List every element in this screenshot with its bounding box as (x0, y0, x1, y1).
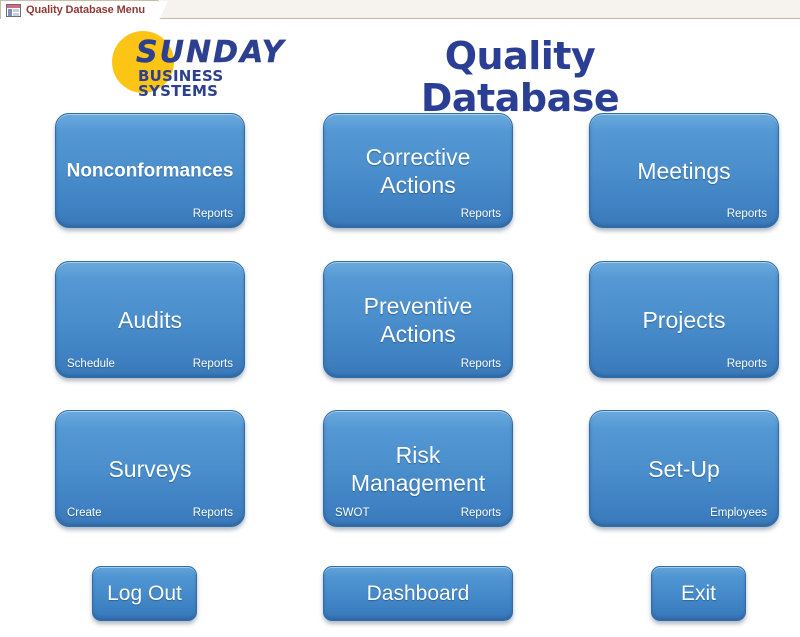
menu-button-sublabel-swot[interactable]: SWOT (335, 507, 370, 519)
menu-button-meetings[interactable]: Meetings Reports (589, 113, 779, 228)
menu-button-label: RiskManagement (324, 440, 512, 496)
dashboard-button[interactable]: Dashboard (323, 566, 513, 621)
exit-button[interactable]: Exit (651, 566, 746, 621)
menu-button-sublabel-reports[interactable]: Reports (193, 507, 233, 519)
logo-brand-name: SUNDAY (136, 38, 285, 68)
tab-label: Quality Database Menu (26, 4, 145, 16)
menu-button-sublabel-reports[interactable]: Reports (727, 208, 767, 220)
menu-button-audits[interactable]: Audits Schedule Reports (55, 261, 245, 378)
menu-button-preventive-actions[interactable]: PreventiveActions Reports (323, 261, 513, 378)
dashboard-label: Dashboard (367, 582, 470, 606)
menu-button-sublabel-reports[interactable]: Reports (461, 358, 501, 370)
menu-button-label: PreventiveActions (324, 291, 512, 347)
menu-button-label: Meetings (590, 156, 778, 184)
sunday-business-systems-logo: SUNDAY BUSINESS SYSTEMS (108, 31, 288, 89)
menu-button-sublabel-schedule[interactable]: Schedule (67, 358, 115, 370)
logo-brand-tagline: BUSINESS SYSTEMS (138, 69, 288, 99)
menu-button-sublabel-employees[interactable]: Employees (710, 507, 767, 519)
menu-button-sublabel-reports[interactable]: Reports (461, 208, 501, 220)
exit-label: Exit (681, 582, 716, 606)
menu-button-surveys[interactable]: Surveys Create Reports (55, 410, 245, 527)
log-out-label: Log Out (107, 582, 182, 606)
access-tab-strip: Quality Database Menu (0, 0, 800, 19)
page-title: Quality Database (360, 36, 680, 120)
log-out-button[interactable]: Log Out (92, 566, 197, 621)
menu-button-label: Nonconformances (56, 159, 244, 182)
menu-button-set-up[interactable]: Set-Up Employees (589, 410, 779, 527)
menu-button-sublabel-reports[interactable]: Reports (461, 507, 501, 519)
menu-button-label: Projects (590, 305, 778, 333)
menu-button-nonconformances[interactable]: Nonconformances Reports (55, 113, 245, 228)
access-form-icon (6, 4, 21, 17)
menu-button-sublabel-reports[interactable]: Reports (193, 208, 233, 220)
menu-button-risk-management[interactable]: RiskManagement SWOT Reports (323, 410, 513, 527)
menu-button-label: Surveys (56, 454, 244, 482)
menu-button-label: Set-Up (590, 454, 778, 482)
menu-button-sublabel-reports[interactable]: Reports (727, 358, 767, 370)
tab-quality-database-menu[interactable]: Quality Database Menu (0, 0, 160, 19)
menu-button-sublabel-reports[interactable]: Reports (193, 358, 233, 370)
menu-button-corrective-actions[interactable]: CorrectiveActions Reports (323, 113, 513, 228)
menu-button-sublabel-create[interactable]: Create (67, 507, 102, 519)
menu-button-label: Audits (56, 305, 244, 333)
menu-button-label: CorrectiveActions (324, 142, 512, 198)
menu-button-projects[interactable]: Projects Reports (589, 261, 779, 378)
